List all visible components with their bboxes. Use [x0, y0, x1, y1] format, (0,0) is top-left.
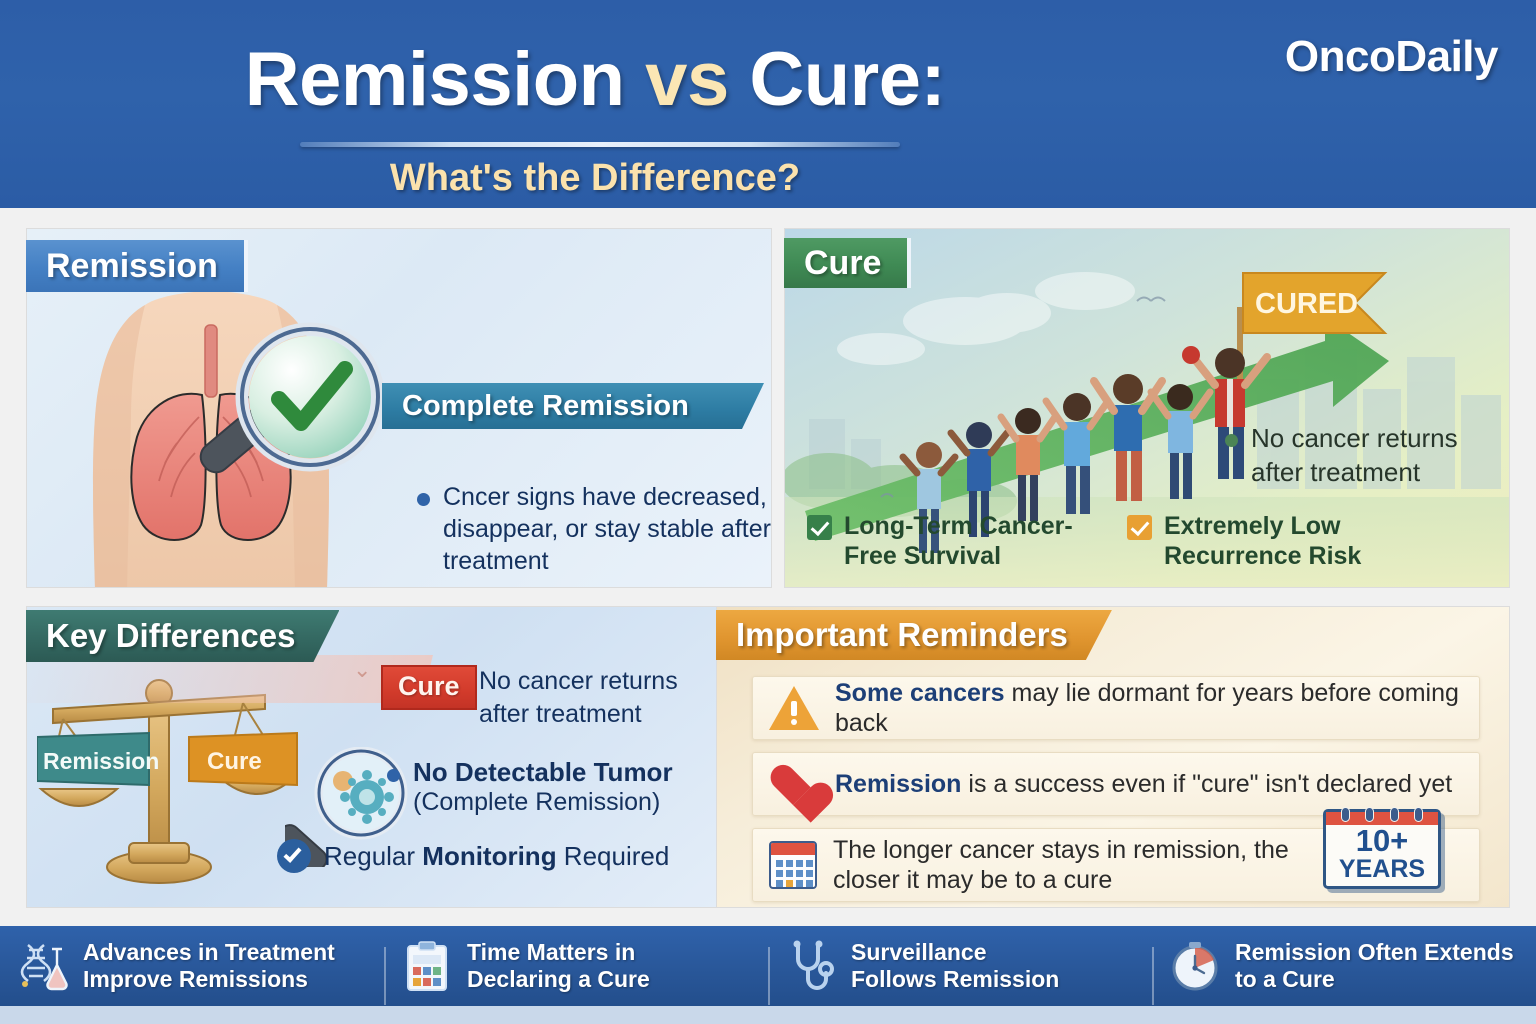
- key-diff-item-3: Regular Monitoring Required: [277, 839, 669, 873]
- cure-heading-badge: Cure: [784, 238, 911, 288]
- cure-bullet-1-text: No cancer returns after treatment: [1251, 422, 1485, 490]
- key-diff-item-2: No Detectable Tumor (Complete Remission): [387, 757, 717, 817]
- footer-label-line2: Declaring a Cure: [467, 966, 650, 992]
- footer-item-advances[interactable]: Advances in Treatment Improve Remissions: [0, 939, 384, 993]
- page-title: Remission vs Cure:: [0, 36, 1190, 123]
- reminder-item-1-bold: Some cancers: [835, 679, 1005, 707]
- footer-item-time-label: Time Matters in Declaring a Cure: [467, 939, 650, 993]
- reminder-item-2-text: Remission is a success even if "cure" is…: [835, 769, 1452, 799]
- title-divider: [300, 142, 900, 147]
- footer-label-line1: Time Matters in: [467, 939, 635, 965]
- reminders-heading-badge: Important Reminders: [716, 610, 1112, 660]
- clipboard-chart-icon: [400, 939, 454, 993]
- reminders-heading-label: Important Reminders: [736, 616, 1068, 654]
- reminder-item-1-text: Some cancers may lie dormant for years b…: [835, 678, 1463, 738]
- page-footer: Advances in Treatment Improve Remissions…: [0, 926, 1536, 1006]
- title-accent: vs: [645, 37, 729, 122]
- cure-tag-backdrop: [26, 655, 433, 703]
- key-diff-item-1: No cancer returns after treatment: [479, 665, 713, 730]
- footer-item-surveillance[interactable]: Surveillance Follows Remission: [768, 939, 1152, 993]
- footer-item-extends-label: Remission Often Extends to a Cure: [1235, 939, 1514, 993]
- cure-tag-badge: Cure: [381, 665, 477, 710]
- bullet-dot-icon: [417, 493, 430, 506]
- bullet-dot-icon: [387, 769, 400, 782]
- footer-label-line2: to a Cure: [1235, 966, 1335, 992]
- footer-bottom-strip: [0, 1006, 1536, 1024]
- footer-label-line1: Advances in Treatment: [83, 939, 335, 965]
- footer-label-line1: Surveillance: [851, 939, 987, 965]
- bullet-dot-icon: [1225, 434, 1238, 447]
- cure-check-1: Long-Term Cancer-Free Survival: [807, 512, 1117, 571]
- remission-bullet-1-text: Cncer signs have decreased, disappear, o…: [443, 481, 772, 577]
- calendar-icon: [769, 841, 817, 889]
- blue-check-circle-icon: [277, 839, 311, 873]
- key-differences-heading-badge: Key Differences: [26, 610, 339, 662]
- key-diff-item-3-post: Required: [557, 841, 670, 871]
- key-differences-heading-label: Key Differences: [46, 617, 295, 655]
- footer-item-surveillance-label: Surveillance Follows Remission: [851, 939, 1059, 993]
- svg-text:Remission: Remission: [43, 748, 159, 774]
- footer-item-extends[interactable]: Remission Often Extends to a Cure: [1152, 939, 1536, 993]
- remission-bullet-1: Cncer signs have decreased, disappear, o…: [417, 481, 772, 577]
- title-main: Remission: [245, 37, 645, 122]
- footer-label-line1: Remission Often Extends: [1235, 939, 1514, 965]
- key-diff-item-3-pre: Regular: [324, 841, 422, 871]
- cure-bullet-1: No cancer returns after treatment: [1225, 422, 1485, 490]
- lungs-torso-illustration: [27, 277, 395, 588]
- check-box-icon: [1127, 515, 1152, 540]
- cure-check-1-label: Long-Term Cancer-Free Survival: [844, 512, 1117, 571]
- key-diff-item-2-sub: (Complete Remission): [413, 788, 660, 816]
- dna-flask-icon: [16, 939, 70, 993]
- remission-heading-label: Remission: [46, 247, 218, 286]
- footer-item-advances-label: Advances in Treatment Improve Remissions: [83, 939, 335, 993]
- heart-icon: [769, 761, 819, 807]
- years-badge: 10+ YEARS: [1323, 809, 1441, 889]
- check-box-icon: [807, 515, 832, 540]
- reminder-item-3-text: The longer cancer stays in remission, th…: [833, 835, 1313, 895]
- reminder-item-1: Some cancers may lie dormant for years b…: [752, 676, 1480, 740]
- page-subtitle: What's the Difference?: [0, 157, 1190, 200]
- reminder-item-2-bold: Remission: [835, 770, 961, 798]
- brand-logo: OncoDaily: [1285, 32, 1498, 82]
- footer-label-line2: Follows Remission: [851, 966, 1059, 992]
- key-diff-item-2-bold: No Detectable Tumor: [413, 757, 673, 787]
- warning-triangle-icon: [769, 686, 819, 730]
- chevron-down-icon: ⌄: [353, 657, 371, 683]
- key-diff-item-3-bold: Monitoring: [422, 841, 556, 871]
- page-header: Remission vs Cure: What's the Difference…: [0, 0, 1536, 208]
- footer-label-line2: Improve Remissions: [83, 966, 308, 992]
- cure-heading-label: Cure: [804, 244, 881, 283]
- cure-check-2: Extremely Low Recurrence Risk: [1127, 512, 1467, 571]
- title-end: Cure:: [729, 37, 946, 122]
- complete-remission-badge: Complete Remission: [382, 383, 764, 429]
- footer-item-time[interactable]: Time Matters in Declaring a Cure: [384, 939, 768, 993]
- svg-text:Cure: Cure: [207, 748, 262, 775]
- svg-text:CURED: CURED: [1255, 288, 1358, 320]
- reminder-item-2-rest: is a success even if "cure" isn't declar…: [961, 770, 1452, 798]
- reminder-item-3: The longer cancer stays in remission, th…: [752, 828, 1480, 902]
- cure-tag-label: Cure: [398, 671, 460, 701]
- years-badge-number: 10+: [1326, 825, 1438, 856]
- complete-remission-label: Complete Remission: [402, 390, 689, 423]
- cure-check-2-label: Extremely Low Recurrence Risk: [1164, 512, 1467, 571]
- stopwatch-icon: [1168, 939, 1222, 993]
- remission-heading-badge: Remission: [26, 240, 248, 292]
- key-diff-item-3-text: Regular Monitoring Required: [324, 841, 669, 872]
- stethoscope-icon: [784, 939, 838, 993]
- years-badge-unit: YEARS: [1326, 856, 1438, 882]
